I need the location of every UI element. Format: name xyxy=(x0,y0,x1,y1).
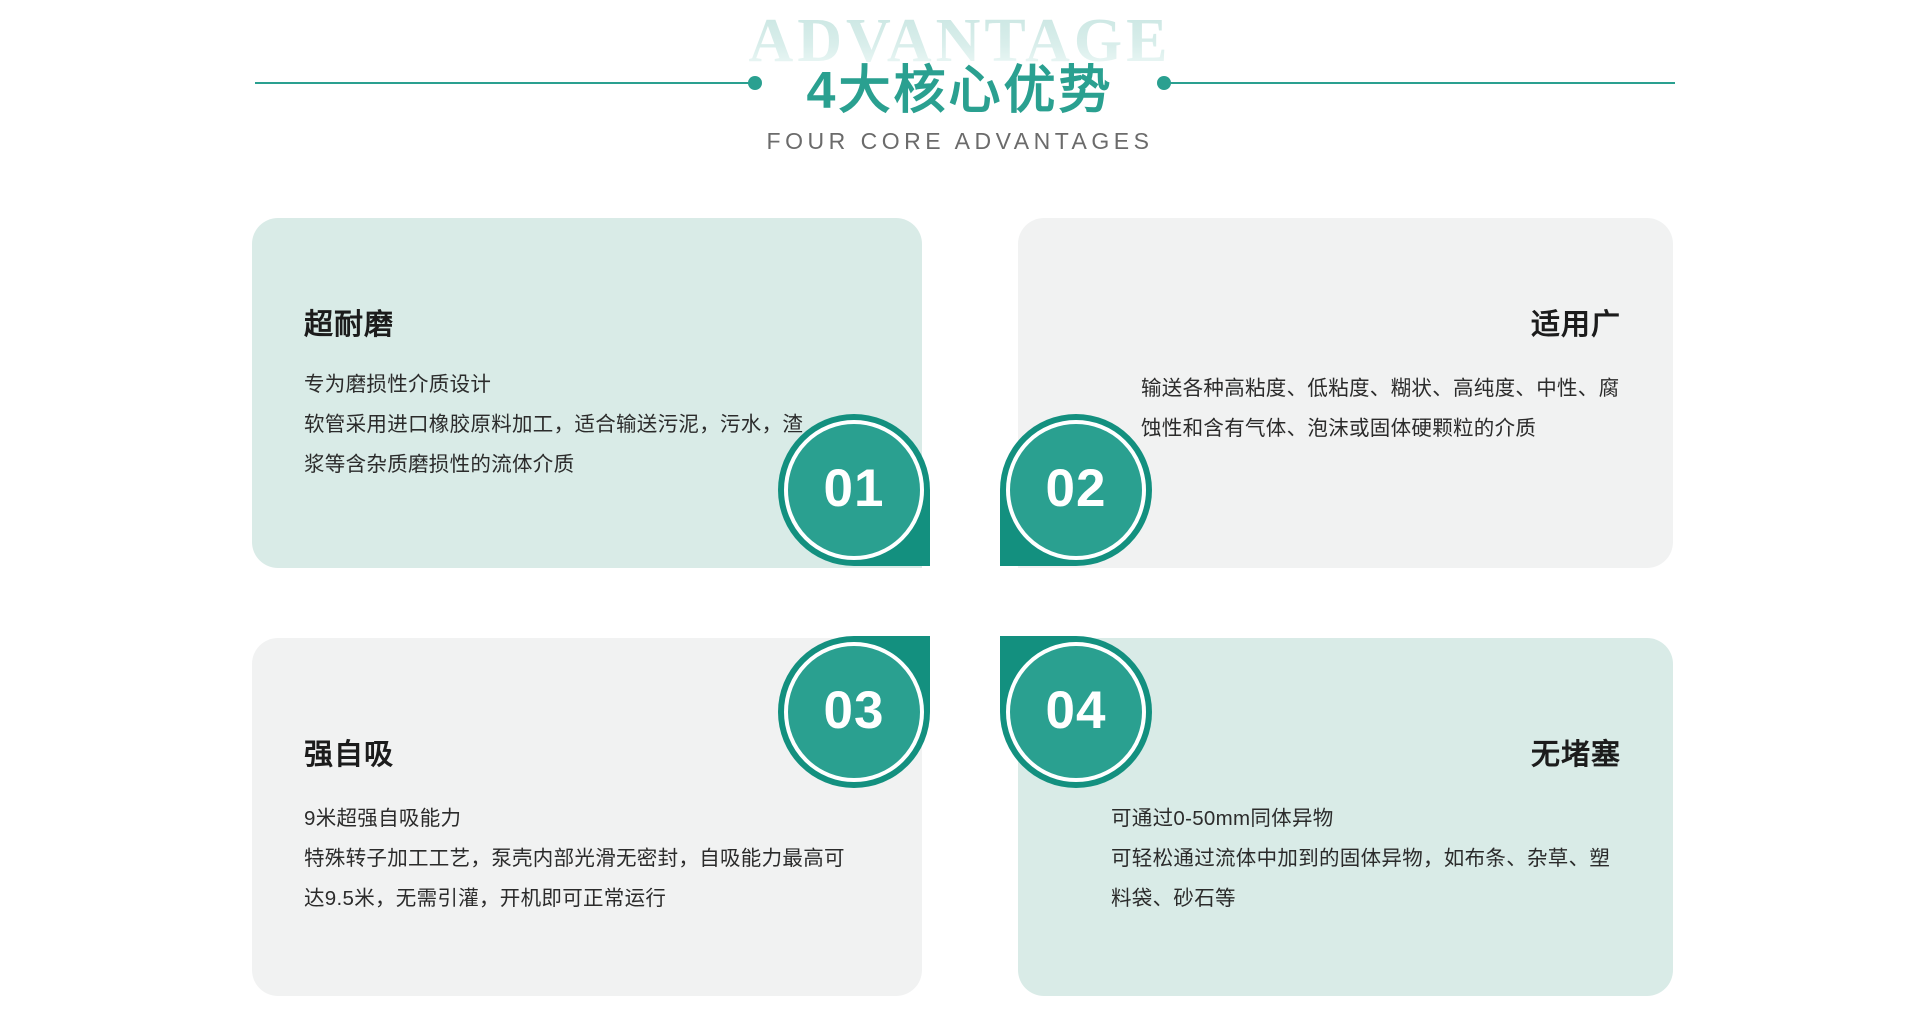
badge-number: 04 xyxy=(1046,684,1107,737)
advantage-card-line: 软管采用进口橡胶原料加工，适合输送污泥，污水，渣浆等含杂质磨损性的流体介质 xyxy=(304,405,814,485)
advantage-card-title: 强自吸 xyxy=(304,738,866,773)
advantage-card-line: 特殊转子加工工艺，泵壳内部光滑无密封，自吸能力最高可达9.5米，无需引灌，开机即… xyxy=(304,839,864,919)
page-title: 4大核心优势 xyxy=(0,48,1920,123)
advantage-badge-01: 01 xyxy=(778,414,930,566)
badge-inner-ring: 03 xyxy=(784,642,924,782)
advantage-card-line: 专为磨损性介质设计 xyxy=(304,365,814,405)
advantage-card-title: 超耐磨 xyxy=(304,308,866,343)
advantage-card-title: 无堵塞 xyxy=(1074,738,1621,773)
badge-number: 02 xyxy=(1046,462,1107,515)
advantage-card-body: 专为磨损性介质设计 软管采用进口橡胶原料加工，适合输送污泥，污水，渣浆等含杂质磨… xyxy=(304,365,814,485)
advantage-badge-03: 03 xyxy=(778,636,930,788)
advantage-card-body: 输送各种高粘度、低粘度、糊状、高纯度、中性、腐蚀性和含有气体、泡沫或固体硬颗粒的… xyxy=(1141,369,1621,449)
badge-number: 01 xyxy=(824,462,885,515)
badge-number: 03 xyxy=(824,684,885,737)
badge-inner-ring: 01 xyxy=(784,420,924,560)
advantage-card-body: 可通过0-50mm同体异物 可轻松通过流体中加到的固体异物，如布条、杂草、塑料袋… xyxy=(1111,799,1621,919)
advantage-badge-02: 02 xyxy=(1000,414,1152,566)
advantage-card-line: 可通过0-50mm同体异物 xyxy=(1111,799,1621,839)
advantage-badge-04: 04 xyxy=(1000,636,1152,788)
page-subtitle: FOUR CORE ADVANTAGES xyxy=(0,128,1920,155)
advantage-card-line: 输送各种高粘度、低粘度、糊状、高纯度、中性、腐蚀性和含有气体、泡沫或固体硬颗粒的… xyxy=(1141,369,1621,449)
advantage-card-line: 9米超强自吸能力 xyxy=(304,799,864,839)
advantage-card-line: 可轻松通过流体中加到的固体异物，如布条、杂草、塑料袋、砂石等 xyxy=(1111,839,1621,919)
badge-inner-ring: 02 xyxy=(1006,420,1146,560)
advantage-card-body: 9米超强自吸能力 特殊转子加工工艺，泵壳内部光滑无密封，自吸能力最高可达9.5米… xyxy=(304,799,864,919)
page-header: ADVANTAGE 4大核心优势 FOUR CORE ADVANTAGES xyxy=(0,0,1920,170)
badge-inner-ring: 04 xyxy=(1006,642,1146,782)
advantage-card-title: 适用广 xyxy=(1074,308,1621,343)
